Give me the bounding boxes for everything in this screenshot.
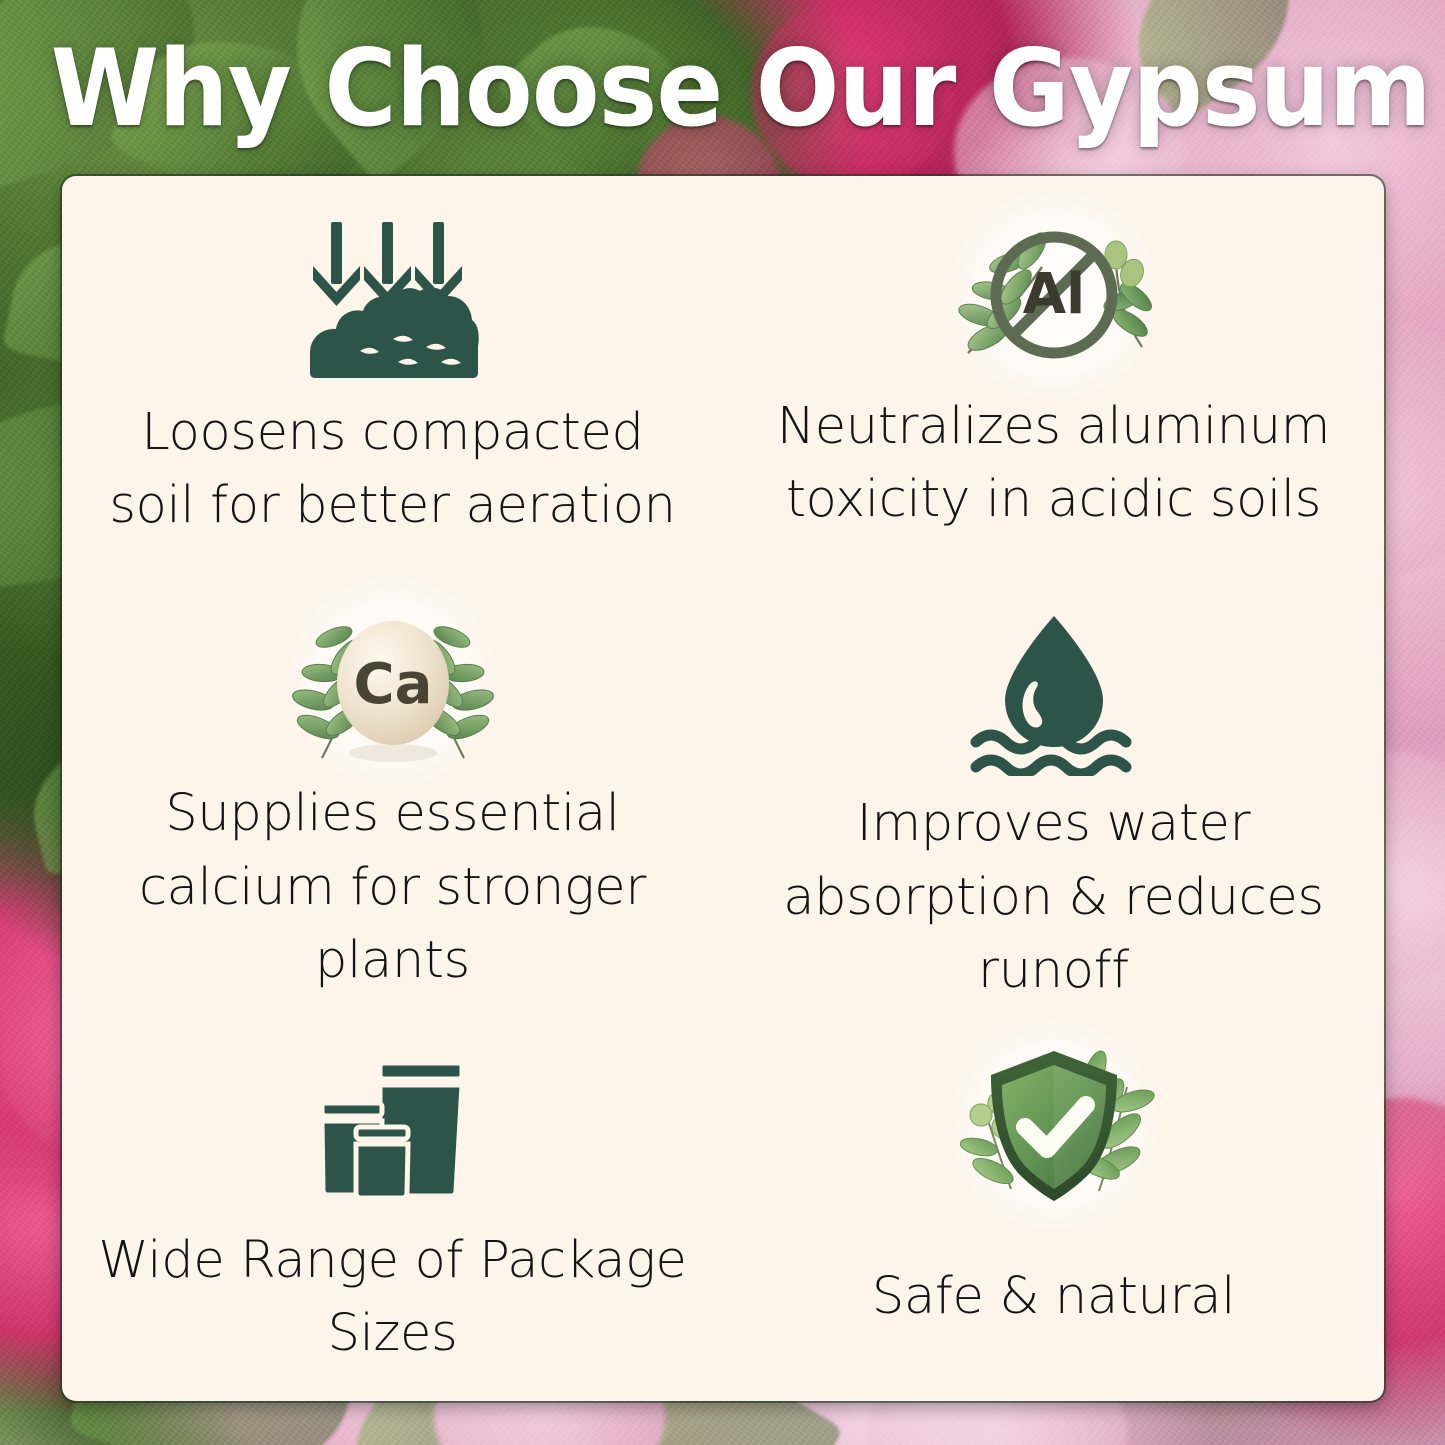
promo-graphic: Why Choose Our Gypsum xyxy=(0,0,1445,1445)
feature-label: Supplies essential calcium for stronger … xyxy=(96,777,689,997)
no-aluminum-icon-wrap: Al xyxy=(946,200,1161,390)
feature-label: Improves water absorption & reduces runo… xyxy=(757,787,1350,1007)
features-card: Loosens compacted soil for better aerati… xyxy=(62,176,1384,1401)
feature-item-calcium: Ca Supplies essential calcium for strong… xyxy=(62,569,723,1007)
calcium-icon-label: Ca xyxy=(353,652,432,717)
water-absorption-icon-wrap xyxy=(964,597,1144,787)
package-sizes-icon-wrap xyxy=(304,1034,482,1224)
page-title: Why Choose Our Gypsum xyxy=(51,36,1395,142)
calcium-icon: Ca xyxy=(288,595,498,770)
soil-aeration-icon-wrap xyxy=(298,206,488,396)
no-aluminum-icon: Al xyxy=(946,205,1161,385)
package-sizes-icon xyxy=(304,1045,482,1213)
feature-label: Safe & natural xyxy=(872,1220,1235,1333)
water-absorption-icon xyxy=(964,608,1144,776)
feature-item-water-absorption: Improves water absorption & reduces runo… xyxy=(723,569,1384,1007)
feature-item-no-aluminum: Al Neutralizes aluminum toxicity in acid… xyxy=(723,176,1384,569)
feature-item-safe-natural: Safe & natural xyxy=(723,1008,1384,1401)
feature-label: Loosens compacted soil for better aerati… xyxy=(96,396,689,543)
safe-natural-shield-icon xyxy=(949,1035,1159,1215)
features-grid: Loosens compacted soil for better aerati… xyxy=(62,176,1384,1401)
feature-item-package-sizes: Wide Range of Package Sizes xyxy=(62,1008,723,1401)
soil-aeration-icon xyxy=(298,216,488,386)
calcium-icon-wrap: Ca xyxy=(288,587,498,777)
feature-item-soil-aeration: Loosens compacted soil for better aerati… xyxy=(62,176,723,569)
safe-natural-shield-icon-wrap xyxy=(949,1030,1159,1220)
feature-label: Wide Range of Package Sizes xyxy=(96,1224,689,1371)
no-aluminum-icon-label: Al xyxy=(1023,262,1086,327)
feature-label: Neutralizes aluminum toxicity in acidic … xyxy=(757,390,1350,537)
